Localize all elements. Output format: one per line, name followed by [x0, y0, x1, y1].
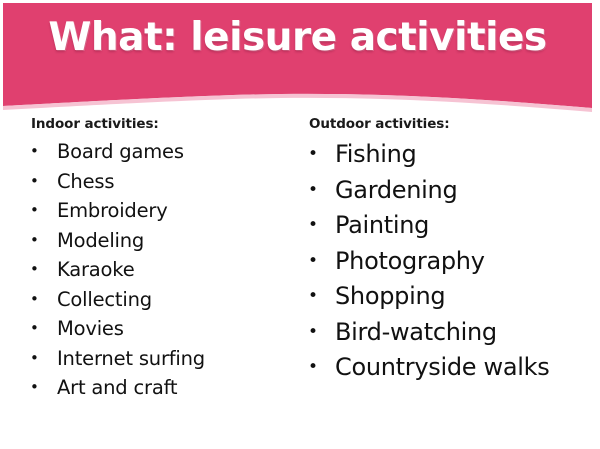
bullet-icon: • [30, 226, 39, 256]
list-item: • Internet surfing [30, 344, 300, 374]
list-item: • Modeling [30, 226, 300, 256]
list-item: • Movies [30, 314, 300, 344]
list-item: • Countryside walks [308, 350, 598, 386]
list-item: • Art and craft [30, 373, 300, 403]
bullet-icon: • [30, 137, 39, 167]
bullet-icon: • [30, 255, 39, 285]
list-item: • Embroidery [30, 196, 300, 226]
list-item-label: Painting [335, 208, 429, 244]
bullet-icon: • [30, 314, 39, 344]
list-item-label: Fishing [335, 137, 416, 173]
slide: What: leisure activities Indoor activiti… [0, 0, 600, 449]
list-item-label: Gardening [335, 173, 457, 209]
column-outdoor-activities: Outdoor activities: • Fishing • Gardenin… [308, 116, 598, 386]
list-item-label: Chess [57, 167, 114, 197]
page-title: What: leisure activities [3, 15, 592, 61]
list-item-label: Shopping [335, 279, 445, 315]
bullet-icon: • [308, 137, 318, 173]
list-item: • Bird-watching [308, 315, 598, 351]
list-item: • Photography [308, 244, 598, 280]
content-columns: Indoor activities: • Board games • Chess… [0, 116, 600, 449]
bullet-icon: • [308, 350, 318, 386]
list-item: • Chess [30, 167, 300, 197]
list-item: • Gardening [308, 173, 598, 209]
header-banner: What: leisure activities [3, 3, 592, 115]
bullet-icon: • [308, 315, 318, 351]
bullet-icon: • [30, 167, 39, 197]
list-item-label: Karaoke [57, 255, 135, 285]
bullet-icon: • [30, 285, 39, 315]
list-item: • Painting [308, 208, 598, 244]
list-item-label: Embroidery [57, 196, 168, 226]
column-heading-outdoor: Outdoor activities: [309, 116, 598, 132]
indoor-activities-list: • Board games • Chess • Embroidery • Mod… [30, 137, 300, 403]
bullet-icon: • [30, 373, 39, 403]
outdoor-activities-list: • Fishing • Gardening • Painting • Photo… [308, 137, 598, 386]
bullet-icon: • [30, 344, 39, 374]
list-item-label: Movies [57, 314, 124, 344]
bullet-icon: • [308, 244, 318, 280]
list-item-label: Collecting [57, 285, 152, 315]
list-item: • Karaoke [30, 255, 300, 285]
list-item: • Fishing [308, 137, 598, 173]
bullet-icon: • [308, 208, 318, 244]
list-item-label: Internet surfing [57, 344, 205, 374]
bullet-icon: • [308, 173, 318, 209]
column-heading-indoor: Indoor activities: [31, 116, 300, 132]
list-item-label: Countryside walks [335, 350, 549, 386]
bullet-icon: • [308, 279, 318, 315]
list-item: • Shopping [308, 279, 598, 315]
list-item-label: Art and craft [57, 373, 177, 403]
bullet-icon: • [30, 196, 39, 226]
list-item-label: Modeling [57, 226, 144, 256]
list-item-label: Bird-watching [335, 315, 497, 351]
list-item: • Collecting [30, 285, 300, 315]
list-item: • Board games [30, 137, 300, 167]
list-item-label: Photography [335, 244, 485, 280]
list-item-label: Board games [57, 137, 184, 167]
column-indoor-activities: Indoor activities: • Board games • Chess… [30, 116, 300, 403]
